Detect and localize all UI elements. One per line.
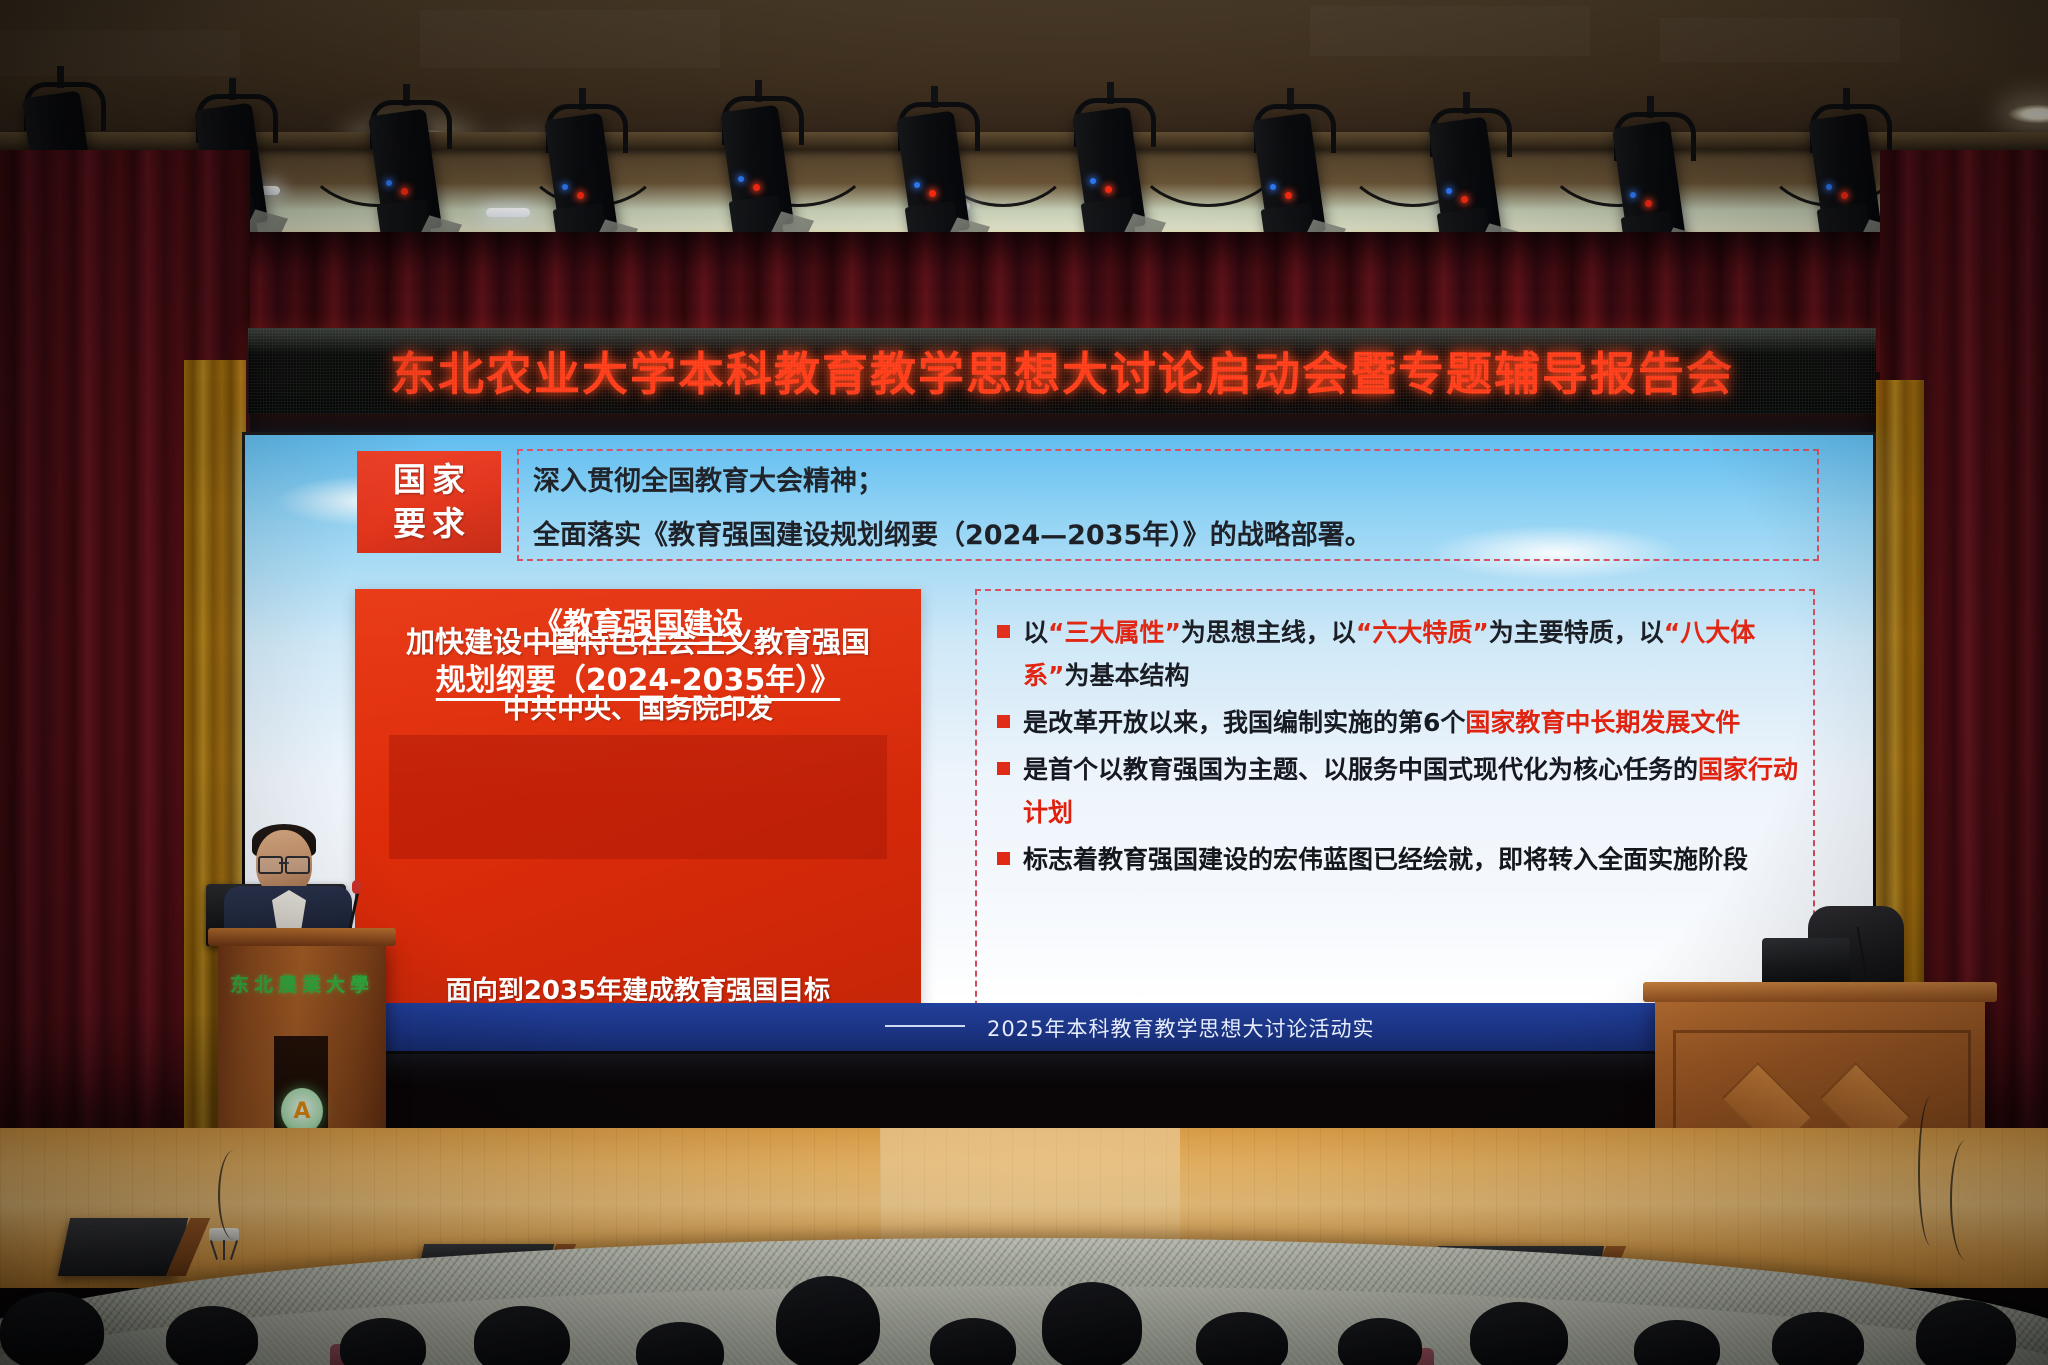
desk-laptop [1762, 938, 1850, 986]
eyeglasses-icon [258, 856, 310, 870]
tag-line-1: 国家 [387, 458, 471, 502]
bullet-text: 标志着教育强国建设的宏伟蓝图已经绘就，即将转入全面实施阶段 [1023, 838, 1805, 881]
presentation-slide: 国家 要求 深入贯彻全国教育大会精神； 全面落实《教育强国建设规划纲要（2024… [245, 435, 1873, 1051]
bullet-plain: 是改革开放以来，我国编制实施的第6个 [1023, 708, 1465, 737]
bullet-item: 标志着教育强国建设的宏伟蓝图已经绘就，即将转入全面实施阶段 [997, 838, 1805, 881]
spotlight-power-led [738, 176, 744, 182]
spotlight-status-led [1105, 186, 1112, 193]
spotlight-power-led [1090, 178, 1096, 184]
led-banner-text: 东北农业大学本科教育教学思想大讨论启动会暨专题辅导报告会 [248, 328, 1876, 414]
slide-footer-band: 2025年本科教育教学思想大讨论活动实 [245, 1003, 1873, 1051]
audience-head [1042, 1282, 1142, 1365]
tripod-leg [223, 1240, 225, 1260]
bullet-plain: 以 [1023, 618, 1048, 647]
ceiling-tile [1310, 6, 1590, 56]
spotlight-status-led [401, 188, 408, 195]
audience-head [166, 1306, 258, 1365]
tube-light [486, 208, 530, 217]
audience-head [1470, 1302, 1568, 1365]
slide-footer-text: 2025年本科教育教学思想大讨论活动实 [987, 1013, 1374, 1043]
projection-screen: 国家 要求 深入贯彻全国教育大会精神； 全面落实《教育强国建设规划纲要（2024… [242, 432, 1876, 1054]
ceiling-tile [0, 30, 240, 76]
podium-microphone-head [352, 880, 361, 894]
led-banner: 东北农业大学本科教育教学思想大讨论启动会暨专题辅导报告会 [248, 328, 1876, 414]
spotlight-power-led [1826, 184, 1832, 190]
bullet-list: 以“三大属性”为思想主线，以“六大特质”为主要特质，以“八大体系”为基本结构是改… [997, 611, 1805, 885]
bullet-marker-icon [997, 625, 1010, 638]
spotlight-power-led [1630, 192, 1636, 198]
bullet-item: 以“三大属性”为思想主线，以“六大特质”为主要特质，以“八大体系”为基本结构 [997, 611, 1805, 697]
spotlight-status-led [1645, 200, 1652, 207]
glasses-lens-left [258, 856, 283, 874]
lectern-university-name: 东北農業大學 [218, 970, 386, 997]
spotlight-status-led [1461, 196, 1468, 203]
top-line-1: 深入贯彻全国教育大会精神； [533, 455, 1803, 509]
top-line-2: 全面落实《教育强国建设规划纲要（2024—2035年）》的战略部署。 [533, 509, 1803, 563]
policy-red-card: 加快建设中国特色社会主义教育强国 中共中央、国务院印发 《教育强国建设 规划纲要… [355, 589, 921, 1051]
auditorium-photo: 东北农业大学本科教育教学思想大讨论启动会暨专题辅导报告会 国家 要求 深入贯彻全… [0, 0, 2048, 1365]
red-card-document-title: 《教育强国建设 规划纲要（2024-2035年）》 [355, 597, 921, 709]
spotlight-status-led [753, 184, 760, 191]
bullet-plain: 为基本结构 [1064, 661, 1189, 690]
bullet-highlight: “六大特质” [1356, 618, 1489, 647]
document-title-line-1: 《教育强国建设 [355, 597, 921, 653]
ceiling-tile [1660, 18, 1900, 62]
spotlight-status-led [1841, 192, 1848, 199]
bullet-text: 是改革开放以来，我国编制实施的第6个国家教育中长期发展文件 [1023, 701, 1805, 744]
spotlight-power-led [562, 184, 568, 190]
tripod-leg [210, 1240, 218, 1260]
document-title-line-2: 规划纲要（2024-2035年）》 [355, 653, 921, 709]
ceiling-tile [420, 10, 720, 68]
bullet-plain: 标志着教育强国建设的宏伟蓝图已经绘就，即将转入全面实施阶段 [1023, 845, 1748, 874]
bullet-marker-icon [997, 852, 1010, 865]
glasses-lens-right [285, 856, 310, 874]
stage-monitor-speaker [58, 1218, 188, 1276]
spotlight-status-led [577, 192, 584, 199]
bullet-text: 是首个以教育强国为主题、以服务中国式现代化为核心任务的国家行动计划 [1023, 748, 1805, 834]
spotlight-status-led [929, 190, 936, 197]
spotlight-power-led [914, 182, 920, 188]
bullet-text: 以“三大属性”为思想主线，以“六大特质”为主要特质，以“八大体系”为基本结构 [1023, 611, 1805, 697]
spotlight-power-led [1270, 184, 1276, 190]
audience-head [0, 1292, 104, 1365]
tripod-leg [230, 1240, 238, 1260]
bullet-item: 是首个以教育强国为主题、以服务中国式现代化为核心任务的国家行动计划 [997, 748, 1805, 834]
bullet-plain: 为思想主线，以 [1181, 618, 1356, 647]
desk-top-edge [1643, 982, 1997, 1002]
footer-rule [885, 1025, 965, 1027]
floor-cable [218, 1150, 250, 1240]
floor-cable [1918, 1096, 1944, 1246]
national-requirement-tag: 国家 要求 [357, 451, 501, 553]
spotlight-power-led [386, 180, 392, 186]
bullet-plain: 是首个以教育强国为主题、以服务中国式现代化为核心任务的 [1023, 755, 1698, 784]
spotlight-status-led [1285, 192, 1292, 199]
spotlight-power-led [1446, 188, 1452, 194]
red-card-inner-panel [389, 735, 887, 859]
bullet-item: 是改革开放以来，我国编制实施的第6个国家教育中长期发展文件 [997, 701, 1805, 744]
floor-cable [1950, 1140, 1982, 1260]
audience-head [776, 1276, 880, 1365]
tag-line-2: 要求 [387, 502, 471, 546]
lectern-top-edge [208, 928, 396, 946]
bullet-highlight: “三大属性” [1048, 618, 1181, 647]
bullet-plain: 为主要特质，以 [1489, 618, 1664, 647]
bullet-highlight: 国家教育中长期发展文件 [1465, 708, 1740, 737]
bullet-marker-icon [997, 715, 1010, 728]
bullet-marker-icon [997, 762, 1010, 775]
top-block-text: 深入贯彻全国教育大会精神； 全面落实《教育强国建设规划纲要（2024—2035年… [533, 455, 1803, 563]
